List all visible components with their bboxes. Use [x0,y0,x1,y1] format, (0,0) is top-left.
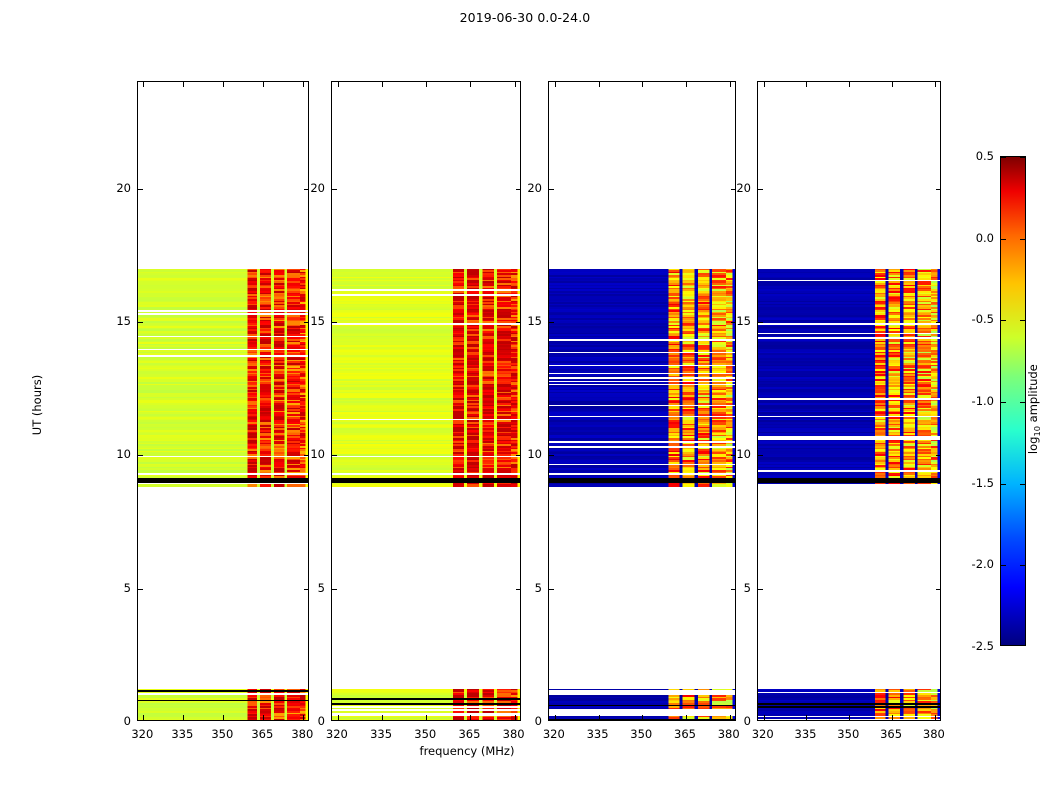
colorbar-tick-right [1020,320,1025,321]
colorbar-axis-label: log10 amplitude [1026,344,1042,474]
y-tick-label: 0 [297,714,325,728]
x-tick-label: 365 [674,727,696,741]
x-tick-label: 350 [837,727,859,741]
x-tick [642,715,643,720]
plot-data-area-yx [758,82,940,720]
y-tick-label: 5 [514,581,542,595]
colorbar-tick-right [1020,239,1025,240]
x-axis-label: frequency (MHz) [367,744,567,758]
colorbar-label-suffix: amplitude [1026,364,1040,426]
heatmap-scanline [758,484,940,486]
y-tick [758,589,763,590]
y-tick [138,322,143,323]
y-tick-label: 10 [297,447,325,461]
colorbar-tick-right [1020,157,1025,158]
x-tick [806,715,807,720]
y-tick [332,455,337,456]
x-tick-top [263,82,264,87]
y-tick-right [936,589,941,590]
x-tick [849,715,850,720]
colorbar-tick-label: -2.5 [956,639,994,653]
y-tick-label: 20 [723,181,751,195]
x-tick-label: 320 [131,727,153,741]
plot-data-area-yy [332,82,520,720]
x-tick-top [143,82,144,87]
y-tick-label: 5 [297,581,325,595]
y-tick-label: 5 [103,581,131,595]
y-tick-right [936,455,941,456]
x-tick [426,715,427,720]
plot-data-area-xx [138,82,308,720]
x-tick-top [764,82,765,87]
y-tick [332,189,337,190]
heatmap-scanline [332,484,520,486]
colorbar-label-prefix: log [1026,437,1040,455]
y-tick [758,455,763,456]
x-tick-top [338,82,339,87]
x-tick [892,715,893,720]
x-tick-label: 365 [880,727,902,741]
y-tick-label: 20 [514,181,542,195]
y-tick [549,322,554,323]
x-tick-label: 335 [171,727,193,741]
x-tick-top [642,82,643,87]
colorbar-tick [1001,484,1006,485]
y-tick-label: 10 [723,447,751,461]
x-tick [935,715,936,720]
colorbar-tick [1001,157,1006,158]
x-tick-label: 320 [326,727,348,741]
x-tick-top [935,82,936,87]
x-tick [764,715,765,720]
x-tick [382,715,383,720]
y-tick [549,189,554,190]
colorbar-label-sub: 10 [1032,426,1042,437]
colorbar-tick [1001,320,1006,321]
x-tick [338,715,339,720]
y-tick [138,189,143,190]
y-tick-label: 15 [723,314,751,328]
x-tick-top [515,82,516,87]
y-tick-label: 15 [514,314,542,328]
heatmap-scanline [138,484,308,486]
x-tick-label: 380 [923,727,945,741]
x-tick-top [426,82,427,87]
x-tick-top [599,82,600,87]
plot-data-area-xy [549,82,735,720]
y-tick-label: 15 [103,314,131,328]
x-tick-label: 380 [291,727,313,741]
colorbar-tick-right [1020,402,1025,403]
y-tick [138,589,143,590]
plot-panel-xy[interactable]: XY, V7=EA03 [548,81,736,721]
y-tick [549,455,554,456]
x-tick-label: 320 [543,727,565,741]
plot-panel-yx[interactable]: YX, V7=EA03 [757,81,941,721]
colorbar-tick-right [1020,565,1025,566]
x-tick-label: 350 [630,727,652,741]
x-tick-label: 365 [251,727,273,741]
x-tick [686,715,687,720]
colorbar-tick-label: 0.0 [956,231,994,245]
colorbar-tick [1001,239,1006,240]
x-tick-label: 335 [587,727,609,741]
x-tick-top [183,82,184,87]
figure-suptitle: 2019-06-30 0.0-24.0 [0,10,1050,25]
y-axis-label: UT (hours) [30,345,44,465]
y-tick [332,589,337,590]
y-tick-label: 0 [514,714,542,728]
colorbar-tick-label: -1.5 [956,476,994,490]
colorbar-tick [1001,565,1006,566]
colorbar-tick-label: 0.5 [956,149,994,163]
y-tick-label: 0 [723,714,751,728]
x-tick [555,715,556,720]
x-tick-label: 335 [370,727,392,741]
x-tick-label: 350 [211,727,233,741]
x-tick-top [686,82,687,87]
colorbar-tick-right [1020,484,1025,485]
heatmap-scanline [549,484,735,486]
y-tick [138,455,143,456]
y-tick [332,322,337,323]
y-tick [758,189,763,190]
x-tick [223,715,224,720]
colorbar-gradient [1001,157,1025,645]
colorbar[interactable] [1000,156,1026,646]
x-tick-label: 380 [718,727,740,741]
colorbar-tick-label: -0.5 [956,312,994,326]
x-tick-label: 335 [795,727,817,741]
x-tick-top [470,82,471,87]
x-tick [470,715,471,720]
x-tick-label: 320 [752,727,774,741]
plot-panel-xx[interactable]: XX, V7=EA03 [137,81,309,721]
y-tick-right [936,189,941,190]
y-tick-label: 10 [514,447,542,461]
x-tick-label: 350 [414,727,436,741]
x-tick-top [303,82,304,87]
x-tick [143,715,144,720]
y-tick [549,589,554,590]
plot-panel-yy[interactable]: YY, V7=EA03 [331,81,521,721]
x-tick [263,715,264,720]
x-tick-top [730,82,731,87]
y-tick-label: 20 [297,181,325,195]
x-tick-label: 380 [503,727,525,741]
x-tick-top [849,82,850,87]
y-tick-label: 0 [103,714,131,728]
x-tick-top [892,82,893,87]
x-tick-top [223,82,224,87]
colorbar-tick-label: -1.0 [956,394,994,408]
x-tick-label: 365 [458,727,480,741]
figure-canvas: 2019-06-30 0.0-24.0 frequency (MHz) UT (… [0,0,1050,800]
x-tick-top [382,82,383,87]
colorbar-tick-label: -2.0 [956,557,994,571]
y-tick-label: 15 [297,314,325,328]
y-tick-label: 5 [723,581,751,595]
y-tick-label: 10 [103,447,131,461]
y-tick [758,322,763,323]
x-tick [183,715,184,720]
x-tick-top [555,82,556,87]
y-tick-right [936,322,941,323]
y-tick-label: 20 [103,181,131,195]
x-tick [599,715,600,720]
x-tick-top [806,82,807,87]
colorbar-tick [1001,402,1006,403]
